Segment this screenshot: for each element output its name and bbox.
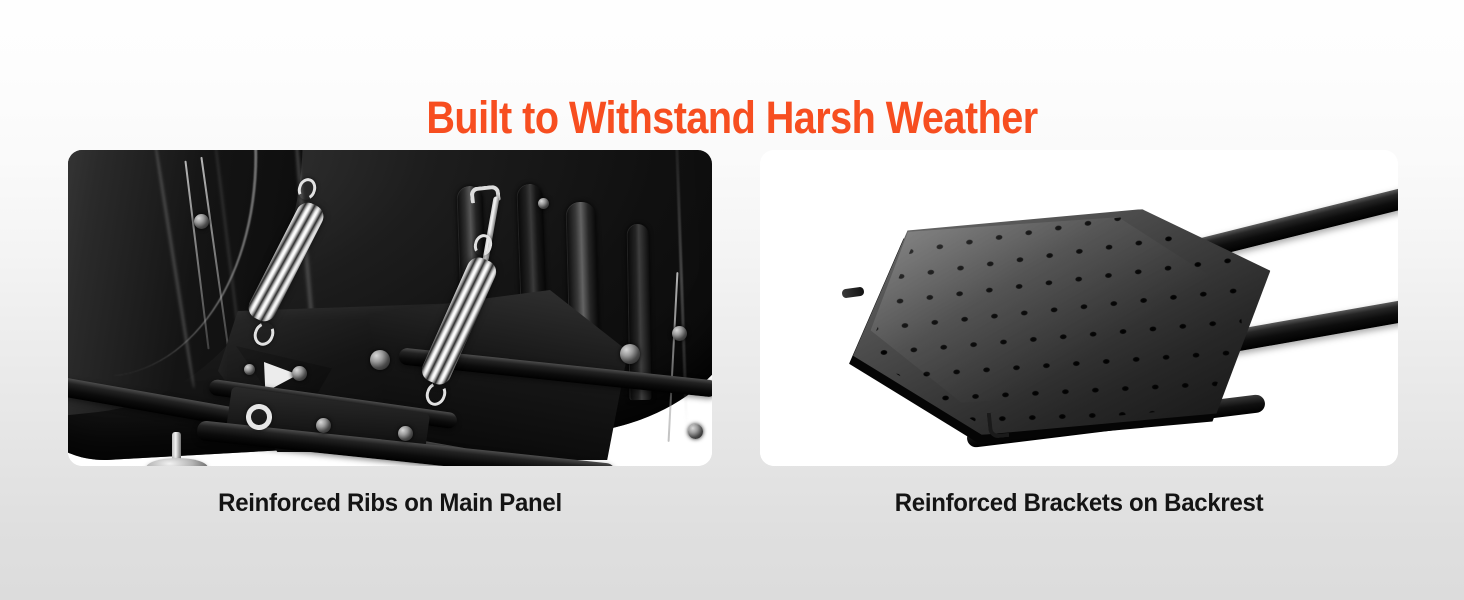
page-title: Built to Withstand Harsh Weather [88,94,1376,142]
bolt-head [244,364,255,375]
bolt-head [672,326,687,341]
feature-card-left [68,150,712,466]
feature-card-row [0,150,1464,466]
bolt-head [292,366,307,381]
caption-right: Reinforced Brackets on Backrest [773,486,1385,520]
backrest-scene [760,150,1398,466]
plow-ribs-photo [68,150,712,466]
bolt-head [688,424,703,439]
plow-scene [68,150,712,466]
feature-card-right [760,150,1398,466]
bolt-head [538,198,549,209]
caption-row: Reinforced Ribs on Main Panel Reinforced… [0,486,1464,530]
caption-left: Reinforced Ribs on Main Panel [81,486,699,520]
bolt-head [620,344,640,364]
bolt-head [194,214,209,229]
bolt-head [316,418,331,433]
bolt-head [370,350,390,370]
product-feature-banner: Built to Withstand Harsh Weather [0,0,1464,600]
bracket-clip [987,411,1010,439]
skid-shoe-disc [146,458,208,466]
bracket-clip [841,287,864,299]
backrest-brackets-photo [760,150,1398,466]
bolt-head [398,426,413,441]
